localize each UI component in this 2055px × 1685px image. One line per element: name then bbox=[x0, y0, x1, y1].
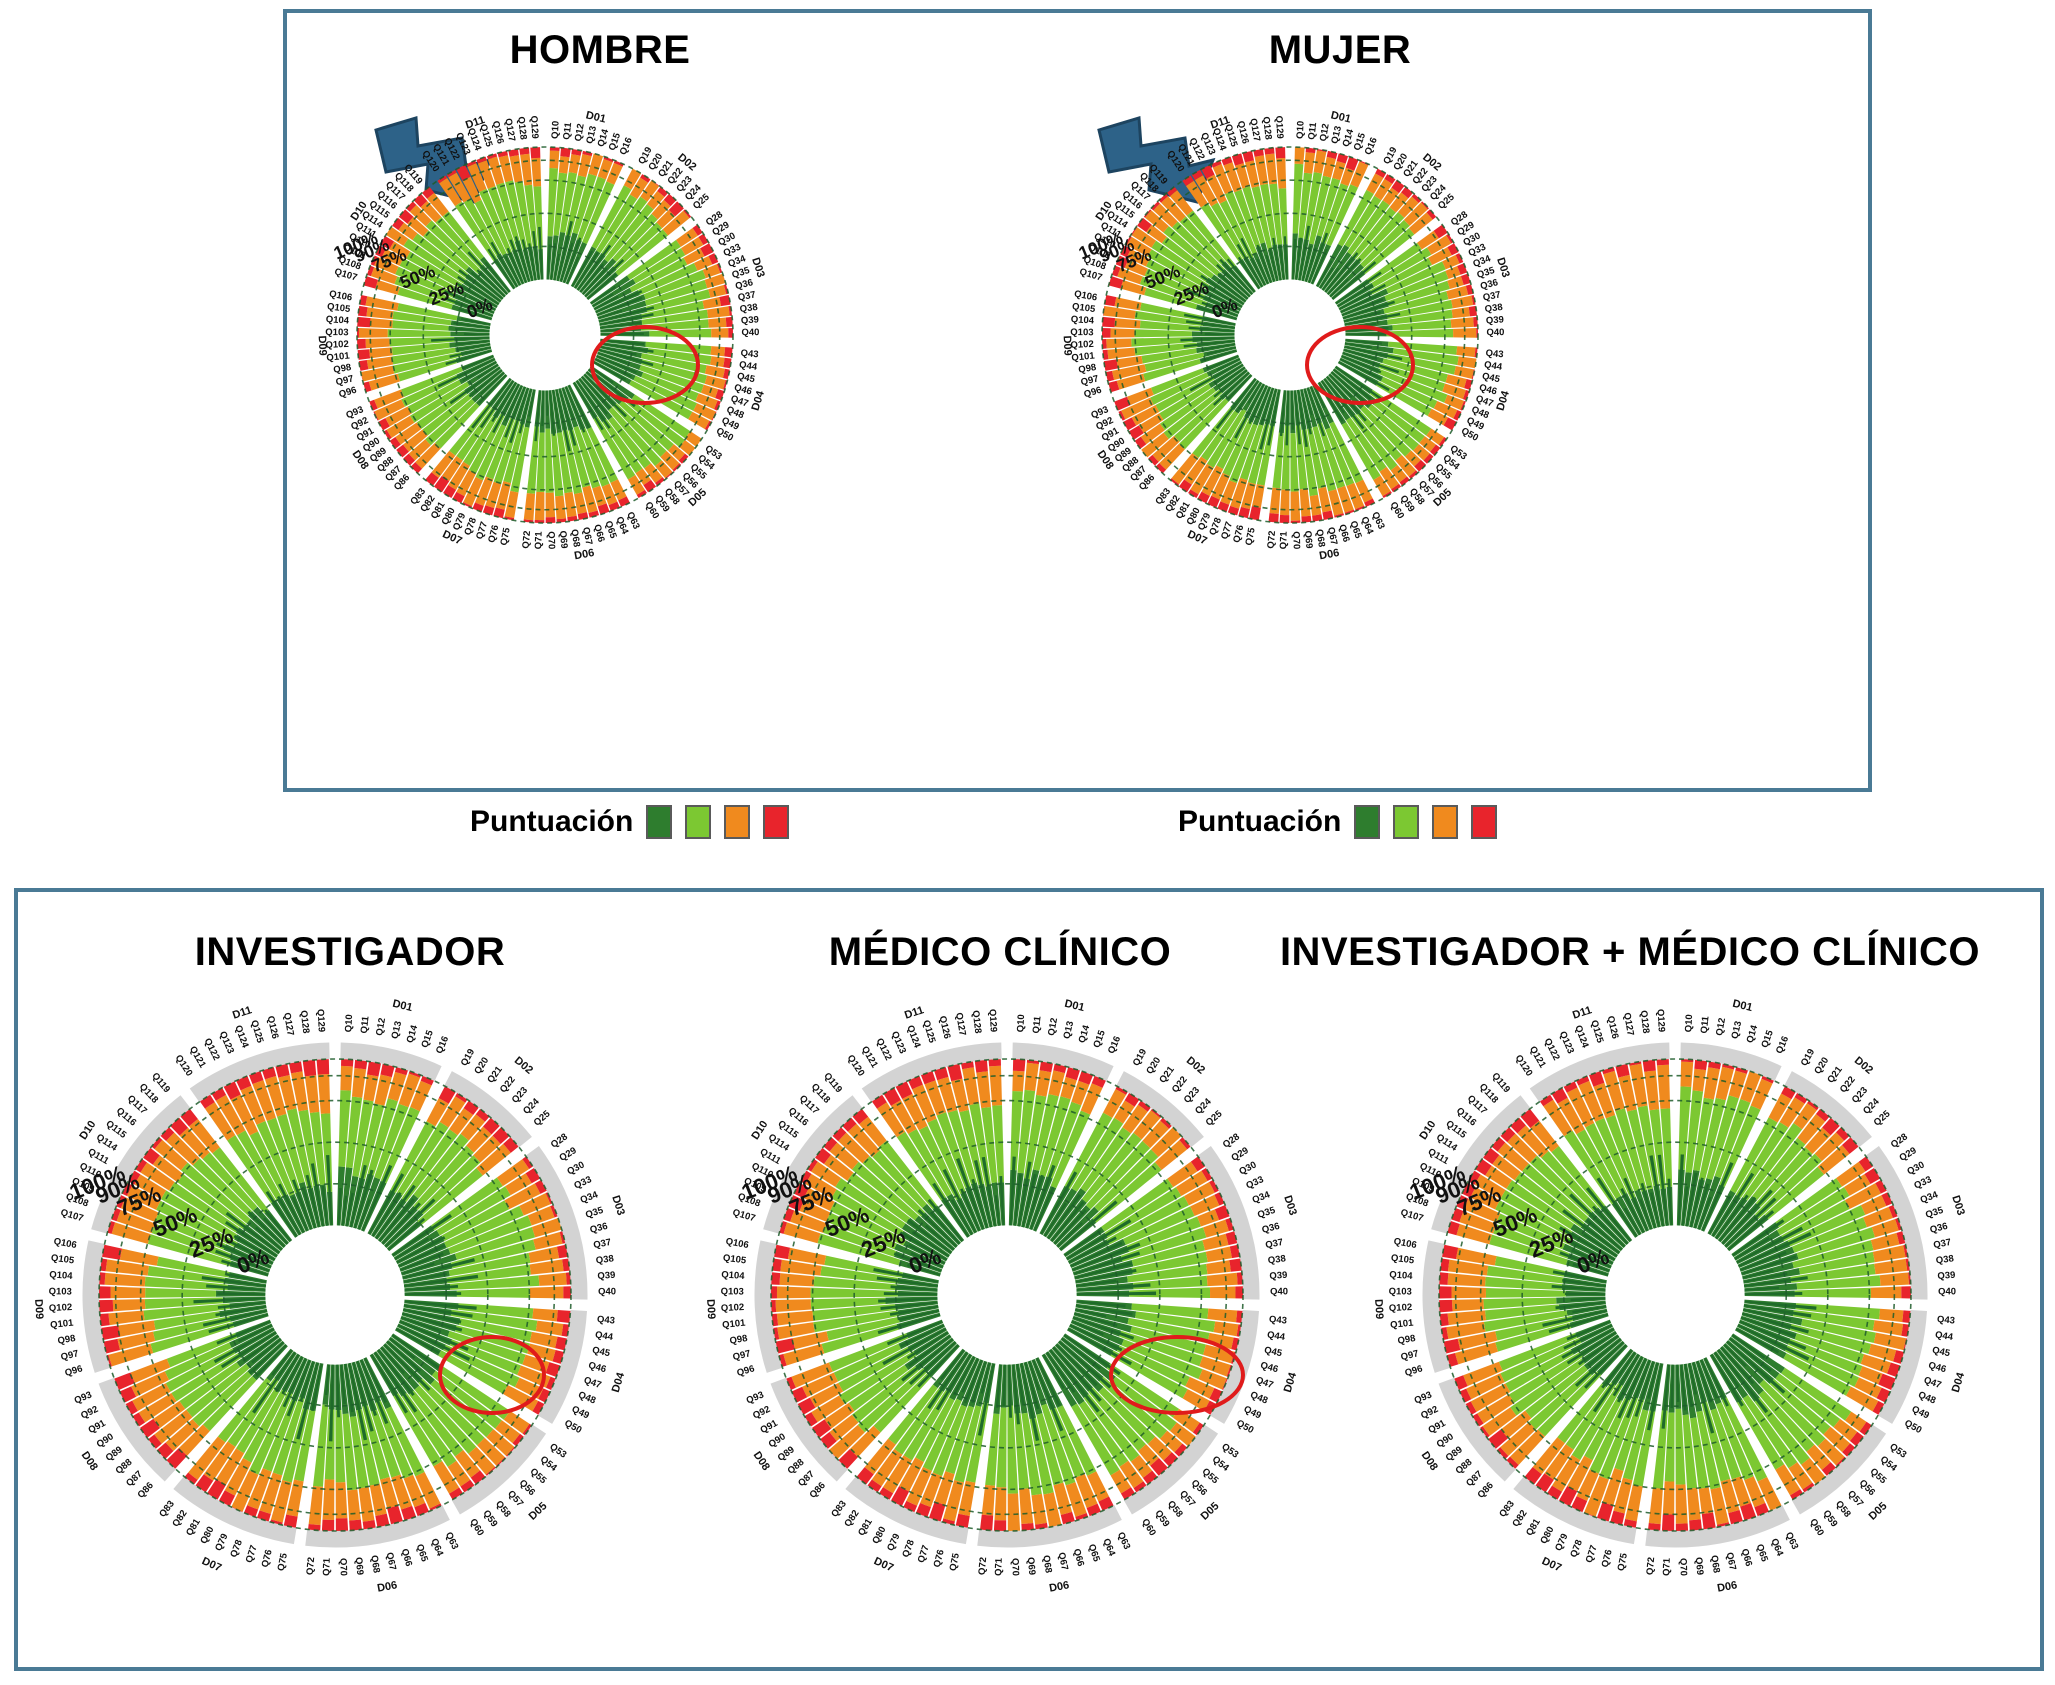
question-label: Q49 bbox=[1910, 1404, 1931, 1422]
question-label: Q43 bbox=[1268, 1314, 1287, 1327]
question-label: Q46 bbox=[587, 1360, 607, 1375]
question-label: Q45 bbox=[1263, 1345, 1284, 1360]
question-label: Q124 bbox=[904, 1024, 922, 1050]
question-label: Q39 bbox=[741, 314, 760, 326]
question-label: Q16 bbox=[1106, 1035, 1123, 1056]
question-label: Q126 bbox=[1605, 1015, 1621, 1040]
question-label: Q96 bbox=[64, 1363, 84, 1379]
polar-chart-investigador-medico: Q10Q11Q12Q13Q14Q15Q16Q19Q20Q21Q22Q23Q24Q… bbox=[1380, 1000, 1970, 1590]
domain-label: D01 bbox=[1330, 109, 1352, 125]
legend-label: Puntuación bbox=[1178, 805, 1341, 839]
question-label: Q71 bbox=[533, 531, 545, 550]
domain-label: D08 bbox=[751, 1450, 772, 1473]
question-label: Q77 bbox=[244, 1544, 260, 1564]
question-label: Q72 bbox=[1266, 530, 1279, 549]
question-label: Q106 bbox=[1393, 1236, 1418, 1251]
domain-label: D09 bbox=[316, 335, 329, 356]
domain-label: D05 bbox=[1867, 1500, 1890, 1523]
question-label: Q107 bbox=[731, 1207, 756, 1224]
question-label: Q125 bbox=[920, 1019, 937, 1045]
question-label: Q129 bbox=[1655, 1009, 1667, 1033]
legend-swatch-light-green bbox=[685, 805, 711, 839]
question-label: Q76 bbox=[1600, 1548, 1615, 1568]
question-label: Q11 bbox=[561, 121, 574, 140]
domain-label: D03 bbox=[1494, 256, 1512, 279]
question-label: Q47 bbox=[1922, 1375, 1943, 1391]
chart-title-medico: MÉDICO CLÍNICO bbox=[700, 930, 1300, 975]
question-label: Q93 bbox=[1413, 1390, 1434, 1407]
question-label: Q39 bbox=[597, 1270, 616, 1282]
question-label: Q47 bbox=[582, 1375, 603, 1391]
question-label: Q38 bbox=[1267, 1253, 1286, 1266]
question-label: Q97 bbox=[1400, 1348, 1420, 1363]
domain-label: D05 bbox=[1199, 1500, 1222, 1523]
question-label: Q106 bbox=[725, 1236, 750, 1251]
question-label: Q103 bbox=[721, 1286, 744, 1297]
domain-label: D04 bbox=[750, 389, 768, 413]
question-label: Q14 bbox=[405, 1023, 421, 1044]
question-label: Q128 bbox=[1638, 1010, 1652, 1034]
question-label: Q71 bbox=[1278, 531, 1290, 550]
domain-label: D03 bbox=[1949, 1194, 1967, 1217]
question-label: Q44 bbox=[594, 1329, 614, 1343]
question-label: Q30 bbox=[565, 1159, 586, 1177]
domain-label: D06 bbox=[1318, 547, 1340, 562]
question-label: Q76 bbox=[932, 1548, 947, 1568]
question-label: Q70 bbox=[337, 1558, 349, 1576]
question-label: Q50 bbox=[1234, 1418, 1255, 1436]
question-label: Q46 bbox=[1259, 1360, 1279, 1375]
question-label: Q105 bbox=[1071, 301, 1096, 315]
question-label: Q92 bbox=[79, 1404, 100, 1422]
question-label: Q49 bbox=[570, 1404, 591, 1422]
question-label: Q37 bbox=[1264, 1237, 1284, 1251]
question-label: Q39 bbox=[1269, 1270, 1288, 1282]
question-label: Q10 bbox=[1683, 1014, 1695, 1033]
question-label: Q19 bbox=[459, 1047, 477, 1068]
question-label: Q11 bbox=[1306, 121, 1319, 140]
domain-label: D09 bbox=[32, 1299, 45, 1320]
question-label: Q66 bbox=[399, 1547, 414, 1567]
question-label: Q102 bbox=[1389, 1302, 1413, 1314]
question-label: Q96 bbox=[736, 1363, 756, 1379]
question-label: Q129 bbox=[1273, 115, 1285, 139]
domain-label: D03 bbox=[609, 1194, 627, 1217]
question-label: Q34 bbox=[1919, 1189, 1940, 1206]
question-label: Q105 bbox=[50, 1253, 75, 1267]
question-label: Q92 bbox=[751, 1404, 772, 1422]
question-label: Q12 bbox=[1046, 1017, 1060, 1037]
question-label: Q68 bbox=[1708, 1554, 1722, 1573]
question-label: Q15 bbox=[419, 1028, 436, 1049]
question-label: Q43 bbox=[1485, 348, 1504, 361]
question-label: Q127 bbox=[953, 1012, 968, 1037]
question-label: Q129 bbox=[528, 115, 540, 139]
question-label: Q107 bbox=[59, 1207, 84, 1224]
question-label: Q14 bbox=[1077, 1023, 1093, 1044]
question-label: Q97 bbox=[732, 1348, 752, 1363]
question-label: Q68 bbox=[1313, 529, 1327, 548]
question-label: Q66 bbox=[1739, 1547, 1754, 1567]
highlight-ellipse-investigador bbox=[432, 1330, 552, 1420]
question-label: Q72 bbox=[521, 530, 534, 549]
question-label: Q35 bbox=[1924, 1205, 1945, 1221]
polar-chart-hombre: Q10Q11Q12Q13Q14Q15Q16Q19Q20Q21Q22Q23Q24Q… bbox=[310, 100, 780, 570]
domain-label: D08 bbox=[79, 1450, 100, 1473]
question-label: Q68 bbox=[568, 529, 582, 548]
question-label: Q11 bbox=[1699, 1015, 1712, 1034]
question-label: Q36 bbox=[589, 1221, 609, 1236]
domain-label: D04 bbox=[1282, 1370, 1300, 1394]
question-label: Q38 bbox=[1484, 302, 1503, 315]
question-label: Q45 bbox=[591, 1345, 612, 1360]
question-label: Q14 bbox=[1745, 1023, 1761, 1044]
question-label: Q50 bbox=[1902, 1418, 1923, 1436]
question-label: Q38 bbox=[739, 302, 758, 315]
question-label: Q68 bbox=[368, 1554, 382, 1573]
question-label: Q13 bbox=[1729, 1020, 1744, 1040]
question-label: Q107 bbox=[1399, 1207, 1424, 1224]
question-label: Q72 bbox=[305, 1557, 318, 1576]
question-label: Q72 bbox=[1645, 1557, 1658, 1576]
question-label: Q43 bbox=[740, 348, 759, 361]
question-label: Q13 bbox=[1061, 1020, 1076, 1040]
question-label: Q19 bbox=[1799, 1047, 1817, 1068]
question-label: Q16 bbox=[1774, 1035, 1791, 1056]
question-label: Q69 bbox=[353, 1557, 366, 1576]
question-label: Q38 bbox=[595, 1253, 614, 1266]
question-label: Q78 bbox=[228, 1538, 245, 1559]
question-label: Q44 bbox=[1934, 1329, 1954, 1343]
question-label: Q19 bbox=[1131, 1047, 1149, 1068]
question-label: Q48 bbox=[1916, 1390, 1937, 1407]
question-label: Q25 bbox=[532, 1108, 553, 1128]
question-label: Q86 bbox=[1475, 1480, 1495, 1501]
domain-label: D01 bbox=[1063, 998, 1085, 1014]
domain-label: D04 bbox=[1950, 1370, 1968, 1394]
question-label: Q81 bbox=[856, 1516, 875, 1538]
legend-swatch-dark-green bbox=[646, 805, 672, 839]
question-label: Q104 bbox=[1389, 1269, 1414, 1282]
question-label: Q30 bbox=[1237, 1159, 1258, 1177]
domain-label: D11 bbox=[903, 1004, 925, 1022]
question-label: Q40 bbox=[1938, 1286, 1956, 1297]
question-label: Q127 bbox=[1621, 1012, 1636, 1037]
question-label: Q72 bbox=[977, 1557, 990, 1576]
question-label: Q44 bbox=[1266, 1329, 1286, 1343]
question-label: Q104 bbox=[325, 314, 350, 327]
legend-swatch-red bbox=[763, 805, 789, 839]
question-label: Q10 bbox=[1015, 1014, 1027, 1033]
domain-label: D02 bbox=[1852, 1055, 1875, 1077]
question-label: Q98 bbox=[57, 1333, 77, 1347]
polar-chart-medico: Q10Q11Q12Q13Q14Q15Q16Q19Q20Q21Q22Q23Q24Q… bbox=[712, 1000, 1302, 1590]
question-label: Q48 bbox=[576, 1390, 597, 1407]
legend-label: Puntuación bbox=[470, 805, 633, 839]
question-label: Q10 bbox=[1295, 121, 1307, 140]
question-label: Q68 bbox=[1040, 1554, 1054, 1573]
question-label: Q98 bbox=[1397, 1333, 1417, 1347]
question-label: Q128 bbox=[298, 1010, 312, 1034]
question-label: Q77 bbox=[916, 1544, 932, 1564]
question-label: Q126 bbox=[937, 1015, 953, 1040]
question-label: Q13 bbox=[389, 1020, 404, 1040]
question-label: Q105 bbox=[722, 1253, 747, 1267]
domain-label: D02 bbox=[512, 1055, 535, 1077]
question-label: Q98 bbox=[729, 1333, 749, 1347]
domain-label: D07 bbox=[1540, 1555, 1563, 1574]
question-label: Q25 bbox=[1872, 1108, 1893, 1128]
question-label: Q63 bbox=[1115, 1530, 1133, 1551]
question-label: Q29 bbox=[558, 1145, 579, 1164]
question-label: Q70 bbox=[1290, 531, 1302, 549]
highlight-ellipse-hombre bbox=[585, 320, 705, 410]
chart-title-investigador-medico: INVESTIGADOR + MÉDICO CLÍNICO bbox=[1240, 930, 2020, 975]
question-label: Q105 bbox=[326, 301, 351, 315]
question-label: Q65 bbox=[1754, 1543, 1770, 1564]
question-label: Q65 bbox=[414, 1543, 430, 1564]
domain-label: D09 bbox=[704, 1299, 717, 1320]
question-label: Q39 bbox=[1486, 314, 1505, 326]
question-label: Q12 bbox=[1714, 1017, 1728, 1037]
question-label: Q40 bbox=[741, 327, 759, 338]
domain-label: D03 bbox=[1281, 1194, 1299, 1217]
question-label: Q50 bbox=[562, 1418, 583, 1436]
question-label: Q76 bbox=[260, 1548, 275, 1568]
question-label: Q40 bbox=[1486, 327, 1504, 338]
legend-swatch-dark-green bbox=[1354, 805, 1380, 839]
domain-label: D02 bbox=[1184, 1055, 1207, 1077]
question-label: Q103 bbox=[325, 327, 348, 338]
domain-label: D03 bbox=[749, 256, 767, 279]
question-label: Q101 bbox=[722, 1317, 747, 1330]
question-label: Q104 bbox=[1070, 314, 1095, 327]
question-label: Q63 bbox=[1783, 1530, 1801, 1551]
question-label: Q10 bbox=[343, 1014, 355, 1033]
question-label: Q124 bbox=[232, 1024, 250, 1050]
question-label: Q29 bbox=[1898, 1145, 1919, 1164]
question-label: Q77 bbox=[1584, 1544, 1600, 1564]
question-label: Q70 bbox=[1009, 1558, 1021, 1576]
question-label: Q45 bbox=[1931, 1345, 1952, 1360]
question-label: Q93 bbox=[73, 1390, 94, 1407]
question-label: Q60 bbox=[1139, 1517, 1158, 1538]
question-label: Q37 bbox=[592, 1237, 612, 1251]
domain-label: D01 bbox=[1731, 998, 1753, 1014]
question-label: Q104 bbox=[49, 1269, 74, 1282]
question-label: Q78 bbox=[900, 1538, 917, 1559]
question-label: Q75 bbox=[276, 1552, 290, 1572]
question-label: Q75 bbox=[948, 1552, 962, 1572]
chart-title-investigador: INVESTIGADOR bbox=[50, 930, 650, 975]
question-label: Q71 bbox=[993, 1557, 1005, 1576]
question-label: Q80 bbox=[1538, 1525, 1556, 1546]
highlight-ellipse-medico bbox=[1105, 1330, 1250, 1420]
question-label: Q81 bbox=[184, 1516, 203, 1538]
question-label: Q11 bbox=[359, 1015, 372, 1034]
question-label: Q80 bbox=[870, 1525, 888, 1546]
question-label: Q129 bbox=[987, 1009, 999, 1033]
question-label: Q65 bbox=[1086, 1543, 1102, 1564]
question-label: Q97 bbox=[60, 1348, 80, 1363]
question-label: Q86 bbox=[135, 1480, 155, 1501]
question-label: Q63 bbox=[443, 1530, 461, 1551]
question-label: Q34 bbox=[579, 1189, 600, 1206]
question-label: Q33 bbox=[1245, 1174, 1266, 1191]
legend-mujer: Puntuación bbox=[1178, 805, 1497, 839]
domain-label: D08 bbox=[1419, 1450, 1440, 1473]
question-label: Q93 bbox=[745, 1390, 766, 1407]
question-label: Q102 bbox=[721, 1302, 745, 1314]
domain-label: D04 bbox=[610, 1370, 628, 1394]
domain-label: D07 bbox=[872, 1555, 895, 1574]
question-label: Q43 bbox=[1936, 1314, 1955, 1327]
domain-label: D06 bbox=[573, 547, 595, 562]
question-label: Q106 bbox=[53, 1236, 78, 1251]
question-label: Q15 bbox=[1759, 1028, 1776, 1049]
domain-label: D01 bbox=[391, 998, 413, 1014]
question-label: Q79 bbox=[1553, 1532, 1570, 1553]
question-label: Q69 bbox=[557, 530, 570, 549]
legend-swatch-orange bbox=[724, 805, 750, 839]
domain-label: D11 bbox=[231, 1004, 253, 1022]
question-label: Q126 bbox=[265, 1015, 281, 1040]
question-label: Q64 bbox=[1768, 1537, 1785, 1558]
question-label: Q38 bbox=[1935, 1253, 1954, 1266]
domain-label: D04 bbox=[1495, 389, 1513, 413]
chart-title-mujer: MUJER bbox=[1140, 28, 1540, 73]
domain-label: D05 bbox=[527, 1500, 550, 1523]
question-label: Q80 bbox=[198, 1525, 216, 1546]
domain-label: D01 bbox=[585, 109, 607, 125]
question-label: Q66 bbox=[1071, 1547, 1086, 1567]
domain-label: D07 bbox=[200, 1555, 223, 1574]
question-label: Q47 bbox=[1254, 1375, 1275, 1391]
question-label: Q103 bbox=[1070, 327, 1093, 338]
question-label: Q124 bbox=[1572, 1024, 1590, 1050]
domain-label: D09 bbox=[1061, 335, 1074, 356]
question-label: Q70 bbox=[545, 531, 557, 549]
question-label: Q105 bbox=[1390, 1253, 1415, 1267]
question-label: Q71 bbox=[1661, 1557, 1673, 1576]
highlight-ellipse-mujer bbox=[1300, 320, 1420, 410]
legend-hombre: Puntuación bbox=[470, 805, 789, 839]
question-label: Q92 bbox=[1419, 1404, 1440, 1422]
legend-swatch-orange bbox=[1432, 805, 1458, 839]
question-label: Q71 bbox=[321, 1557, 333, 1576]
question-label: Q40 bbox=[1270, 1286, 1288, 1297]
question-label: Q102 bbox=[49, 1302, 73, 1314]
question-label: Q96 bbox=[1404, 1363, 1424, 1379]
question-label: Q29 bbox=[1230, 1145, 1251, 1164]
question-label: Q127 bbox=[281, 1012, 296, 1037]
question-label: Q64 bbox=[428, 1537, 445, 1558]
question-label: Q39 bbox=[1937, 1270, 1956, 1282]
question-label: Q86 bbox=[807, 1480, 827, 1501]
question-label: Q60 bbox=[1807, 1517, 1826, 1538]
domain-label: D11 bbox=[1571, 1004, 1593, 1022]
question-label: Q79 bbox=[213, 1532, 230, 1553]
question-label: Q67 bbox=[384, 1551, 398, 1571]
question-label: Q69 bbox=[1302, 530, 1315, 549]
question-label: Q101 bbox=[1390, 1317, 1415, 1330]
question-label: Q33 bbox=[573, 1174, 594, 1191]
domain-label: D09 bbox=[1372, 1299, 1385, 1320]
polar-chart-investigador: Q10Q11Q12Q13Q14Q15Q16Q19Q20Q21Q22Q23Q24Q… bbox=[40, 1000, 630, 1590]
question-label: Q64 bbox=[1100, 1537, 1117, 1558]
question-label: Q34 bbox=[1251, 1189, 1272, 1206]
question-label: Q11 bbox=[1031, 1015, 1044, 1034]
question-label: Q69 bbox=[1693, 1557, 1706, 1576]
question-label: Q75 bbox=[1616, 1552, 1630, 1572]
polar-chart-mujer: Q10Q11Q12Q13Q14Q15Q16Q19Q20Q21Q22Q23Q24Q… bbox=[1055, 100, 1525, 570]
question-label: Q48 bbox=[1248, 1390, 1269, 1407]
question-label: Q79 bbox=[885, 1532, 902, 1553]
legend-swatch-red bbox=[1471, 805, 1497, 839]
question-label: Q16 bbox=[434, 1035, 451, 1056]
question-label: Q125 bbox=[248, 1019, 265, 1045]
question-label: Q36 bbox=[1929, 1221, 1949, 1236]
legend-swatch-light-green bbox=[1393, 805, 1419, 839]
question-label: Q60 bbox=[467, 1517, 486, 1538]
question-label: Q37 bbox=[1932, 1237, 1952, 1251]
question-label: Q125 bbox=[1588, 1019, 1605, 1045]
question-label: Q30 bbox=[1905, 1159, 1926, 1177]
question-label: Q101 bbox=[50, 1317, 75, 1330]
question-label: Q33 bbox=[1913, 1174, 1934, 1191]
question-label: Q35 bbox=[1256, 1205, 1277, 1221]
question-label: Q35 bbox=[584, 1205, 605, 1221]
question-label: Q104 bbox=[721, 1269, 746, 1282]
question-label: Q67 bbox=[1056, 1551, 1070, 1571]
question-label: Q78 bbox=[1568, 1538, 1585, 1559]
question-label: Q15 bbox=[1091, 1028, 1108, 1049]
question-label: Q10 bbox=[550, 121, 562, 140]
question-label: Q129 bbox=[315, 1009, 327, 1033]
question-label: Q103 bbox=[49, 1286, 72, 1297]
question-label: Q70 bbox=[1677, 1558, 1689, 1576]
question-label: Q25 bbox=[1204, 1108, 1225, 1128]
question-label: Q103 bbox=[1389, 1286, 1412, 1297]
question-label: Q46 bbox=[1927, 1360, 1947, 1375]
question-label: Q67 bbox=[1724, 1551, 1738, 1571]
question-label: Q81 bbox=[1524, 1516, 1543, 1538]
chart-title-hombre: HOMBRE bbox=[400, 28, 800, 73]
question-label: Q40 bbox=[598, 1286, 616, 1297]
question-label: Q36 bbox=[1261, 1221, 1281, 1236]
question-label: Q12 bbox=[374, 1017, 388, 1037]
question-label: Q69 bbox=[1025, 1557, 1038, 1576]
question-label: Q128 bbox=[970, 1010, 984, 1034]
question-label: Q43 bbox=[596, 1314, 615, 1327]
